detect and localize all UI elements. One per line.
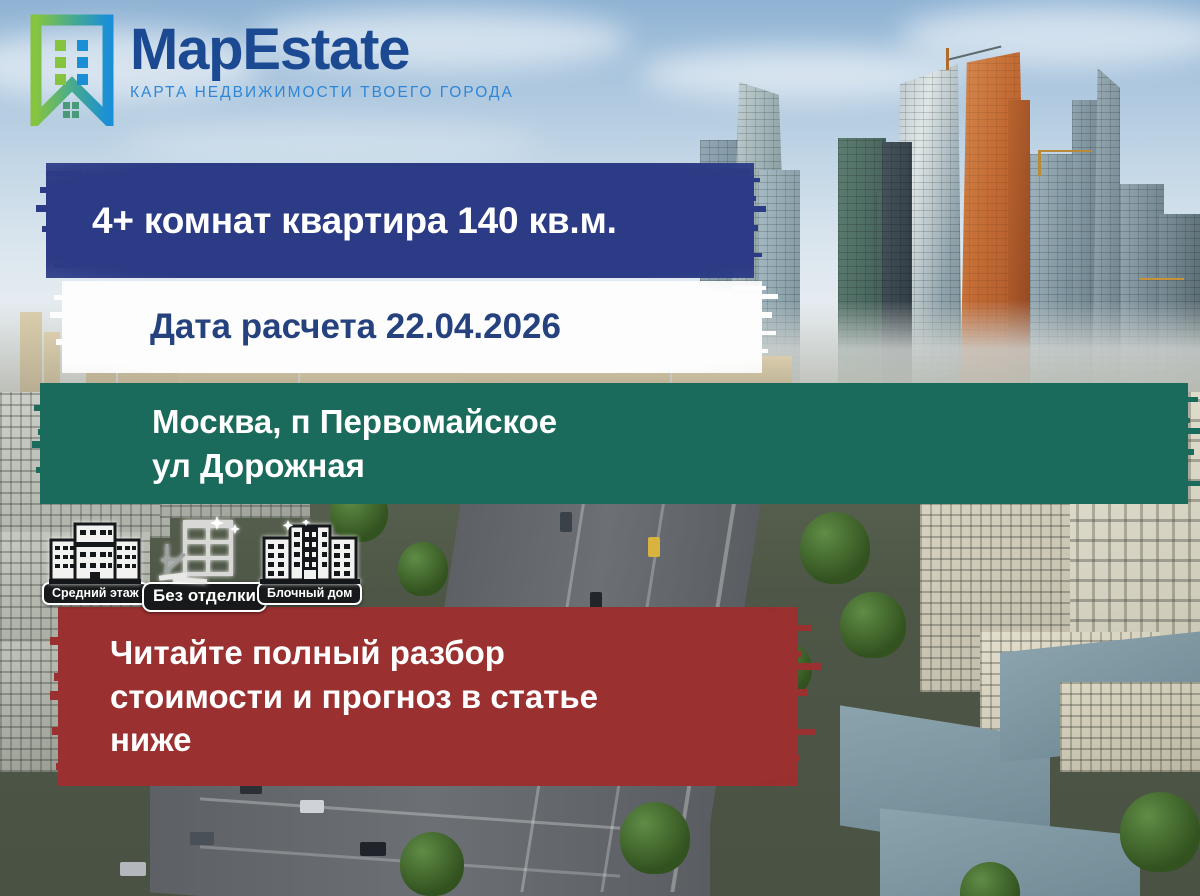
cta-text: Читайте полный разбор стоимости и прогно… <box>110 631 598 763</box>
cta-line-2: стоимости и прогноз в статье <box>110 675 598 719</box>
panel-block-building-icon <box>260 520 360 584</box>
mid-rise-building-icon <box>49 520 141 584</box>
date-text: Дата расчета 22.04.2026 <box>150 307 561 347</box>
feature-mid-floor[interactable]: Средний этаж <box>42 520 149 605</box>
brush-bristle-right <box>720 163 766 278</box>
distant-building <box>20 312 42 392</box>
property-banner: 4+ комнат квартира 140 кв.м. <box>46 163 754 278</box>
feature-label: Без отделки <box>142 582 267 612</box>
logo-wordmark: MapEstate КАРТА НЕДВИЖИМОСТИ ТВОЕГО ГОРО… <box>130 22 514 102</box>
feature-block-house[interactable]: Блочный дом <box>257 520 362 605</box>
brush-bristle-right <box>732 281 778 373</box>
brush-bristle-left <box>32 383 66 504</box>
feature-label: Блочный дом <box>257 582 362 605</box>
date-banner: Дата расчета 22.04.2026 <box>62 281 762 373</box>
location-text: Москва, п Первомайское ул Дорожная <box>152 400 557 487</box>
brand-name: MapEstate <box>130 22 514 77</box>
brand-tagline: КАРТА НЕДВИЖИМОСТИ ТВОЕГО ГОРОДА <box>130 84 514 102</box>
brush-bristle-left <box>36 163 82 278</box>
cta-line-3: ниже <box>110 718 598 762</box>
feature-badges: Средний этаж <box>42 512 387 604</box>
property-text: 4+ комнат квартира 140 кв.м. <box>92 200 617 242</box>
location-line-2: ул Дорожная <box>152 444 557 488</box>
brush-bristle-right <box>756 607 828 786</box>
brush-bristle-right <box>1154 383 1200 504</box>
bare-frame-construction-icon <box>155 514 253 584</box>
brush-bristle-left <box>50 607 82 786</box>
bookmark-building-icon <box>30 14 114 126</box>
logo[interactable]: MapEstate КАРТА НЕДВИЖИМОСТИ ТВОЕГО ГОРО… <box>30 14 514 126</box>
location-line-1: Москва, п Первомайское <box>152 400 557 444</box>
cloud <box>120 120 540 166</box>
feature-no-finishing[interactable]: Без отделки <box>142 514 267 612</box>
cta-banner: Читайте полный разбор стоимости и прогно… <box>58 607 798 786</box>
cta-line-1: Читайте полный разбор <box>110 631 598 675</box>
brush-bristle-left <box>48 281 94 373</box>
location-banner: Москва, п Первомайское ул Дорожная <box>40 383 1188 504</box>
feature-label: Средний этаж <box>42 582 149 605</box>
